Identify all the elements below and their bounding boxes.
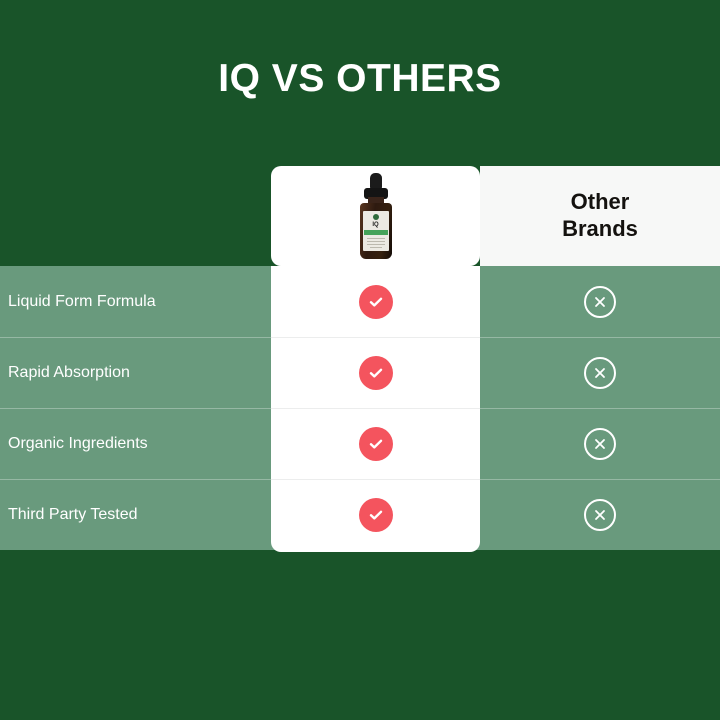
bottle-label-icon: IQ <box>363 211 389 251</box>
comparison-table: Other Brands IQ <box>0 166 720 550</box>
other-brands-cell <box>480 266 720 337</box>
other-brands-cell <box>480 479 720 550</box>
other-brands-line-1: Other <box>571 189 630 214</box>
page-title: IQ VS OTHERS <box>0 58 720 101</box>
bottle-label-band <box>364 230 388 235</box>
bottle-label-text-line <box>367 241 385 242</box>
column-header-iq: IQ <box>271 166 480 266</box>
iq-cell-spacer <box>271 408 480 479</box>
iq-cell-spacer <box>271 479 480 550</box>
bottle-label-text-line <box>367 244 385 245</box>
bottle-label-text-line <box>367 238 385 239</box>
column-header-iq-inner: IQ <box>271 166 480 266</box>
feature-label: Third Party Tested <box>0 505 271 525</box>
iq-cell-spacer <box>271 266 480 337</box>
feature-label: Liquid Form Formula <box>0 292 271 312</box>
feature-label: Rapid Absorption <box>0 363 271 383</box>
table-row: Liquid Form Formula <box>0 266 720 337</box>
table-row: Rapid Absorption <box>0 337 720 408</box>
iq-column-bottom-pad <box>271 550 480 552</box>
cross-circle-icon <box>584 428 616 460</box>
feature-label: Organic Ingredients <box>0 434 271 454</box>
table-header-row: Other Brands IQ <box>0 166 720 266</box>
table-row: Third Party Tested <box>0 479 720 550</box>
other-brands-cell <box>480 337 720 408</box>
brand-crest-icon <box>373 214 379 220</box>
other-brands-cell <box>480 408 720 479</box>
cross-circle-icon <box>584 357 616 389</box>
column-header-other-brands: Other Brands <box>480 166 720 266</box>
comparison-poster: IQ VS OTHERS Other Brands <box>0 0 720 720</box>
bottle-label-product-name: IQ <box>363 222 389 228</box>
other-brands-line-2: Brands <box>562 216 638 241</box>
cross-circle-icon <box>584 499 616 531</box>
cross-circle-icon <box>584 286 616 318</box>
table-row: Organic Ingredients <box>0 408 720 479</box>
product-bottle-image: IQ <box>355 173 397 259</box>
column-header-other-brands-label: Other Brands <box>562 189 638 243</box>
bottle-label-text-line <box>370 247 382 248</box>
iq-cell-spacer <box>271 337 480 408</box>
table-body: Liquid Form Formula Rapid Absorption <box>0 266 720 550</box>
